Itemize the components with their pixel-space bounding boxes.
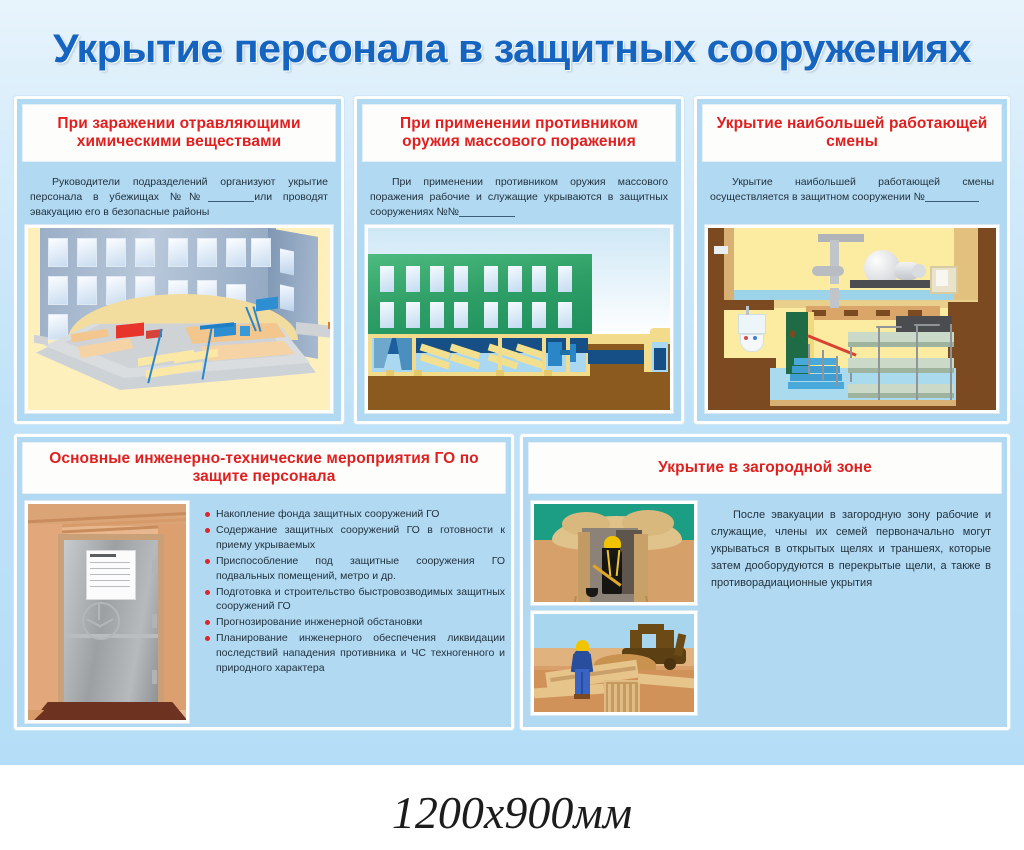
page-title: Укрытие персонала в защитных сооружениях [0, 27, 1024, 72]
panel-header-working-shift: Укрытие наибольшей работающей смены [702, 104, 1002, 162]
measure-item: Накопление фонда защитных сооружений ГО [203, 507, 505, 522]
panel-text-working-shift: Укрытие наибольшей работающей смены осущ… [702, 169, 1002, 221]
image-worker-digging-trench [531, 501, 697, 605]
measure-item: Планирование инженерного обеспечения лик… [203, 631, 505, 676]
panel-header-mass-destruction: При применении противником оружия массов… [362, 104, 676, 162]
measure-item: Прогнозирование инженерной обстановки [203, 615, 505, 630]
image-blast-proof-steel-door [25, 501, 189, 723]
countryside-paragraph: После эвакуации в загородную зону рабочи… [711, 507, 991, 592]
panel-chemical-contamination: При заражении отравляющими химическими в… [14, 96, 344, 424]
measure-item: Содержание защитных сооружений ГО в гото… [203, 523, 505, 553]
image-building-basement-shelter-cutaway [25, 225, 333, 413]
image-green-building-shelter-section [365, 225, 673, 413]
measure-item: Подготовка и строительство быстровозводи… [203, 585, 505, 615]
panel-text-chemical: Руководители подразделений организуют ук… [22, 169, 336, 221]
panel-header-engineering-measures: Основные инженерно-технические мероприят… [22, 442, 506, 494]
panel-header-chemical: При заражении отравляющими химическими в… [22, 104, 336, 162]
image-shelter-interior-bunks-ventilation [705, 225, 999, 413]
fill-in-blank[interactable] [459, 216, 515, 217]
measures-bullet-list: Накопление фонда защитных сооружений ГО … [203, 507, 505, 677]
image-bulldozer-covering-trench [531, 611, 697, 715]
panel-countryside-shelter: Укрытие в загородной зоне [520, 434, 1010, 730]
fill-in-blank[interactable] [208, 201, 254, 202]
panel-text-mass-destruction: При применении противником оружия массов… [362, 169, 676, 221]
panel-text-working-shift-before: Укрытие наибольшей работающей смены осущ… [710, 176, 994, 203]
fill-in-blank[interactable] [925, 201, 979, 202]
panel-mass-destruction: При применении противником оружия массов… [354, 96, 684, 424]
panel-largest-working-shift: Укрытие наибольшей работающей смены Укры… [694, 96, 1010, 424]
panel-header-countryside: Укрытие в загородной зоне [528, 442, 1002, 494]
poster-canvas: Укрытие персонала в защитных сооружениях… [0, 0, 1024, 765]
measure-item: Приспособление под защитные сооружения Г… [203, 554, 505, 584]
poster-size-caption: 1200x900мм [0, 786, 1024, 839]
panel-text-countryside: После эвакуации в загородную зону рабочи… [703, 501, 999, 592]
panel-engineering-measures: Основные инженерно-технические мероприят… [14, 434, 514, 730]
panel-text-mass-destruction-before: При применении противником оружия массов… [370, 176, 668, 218]
